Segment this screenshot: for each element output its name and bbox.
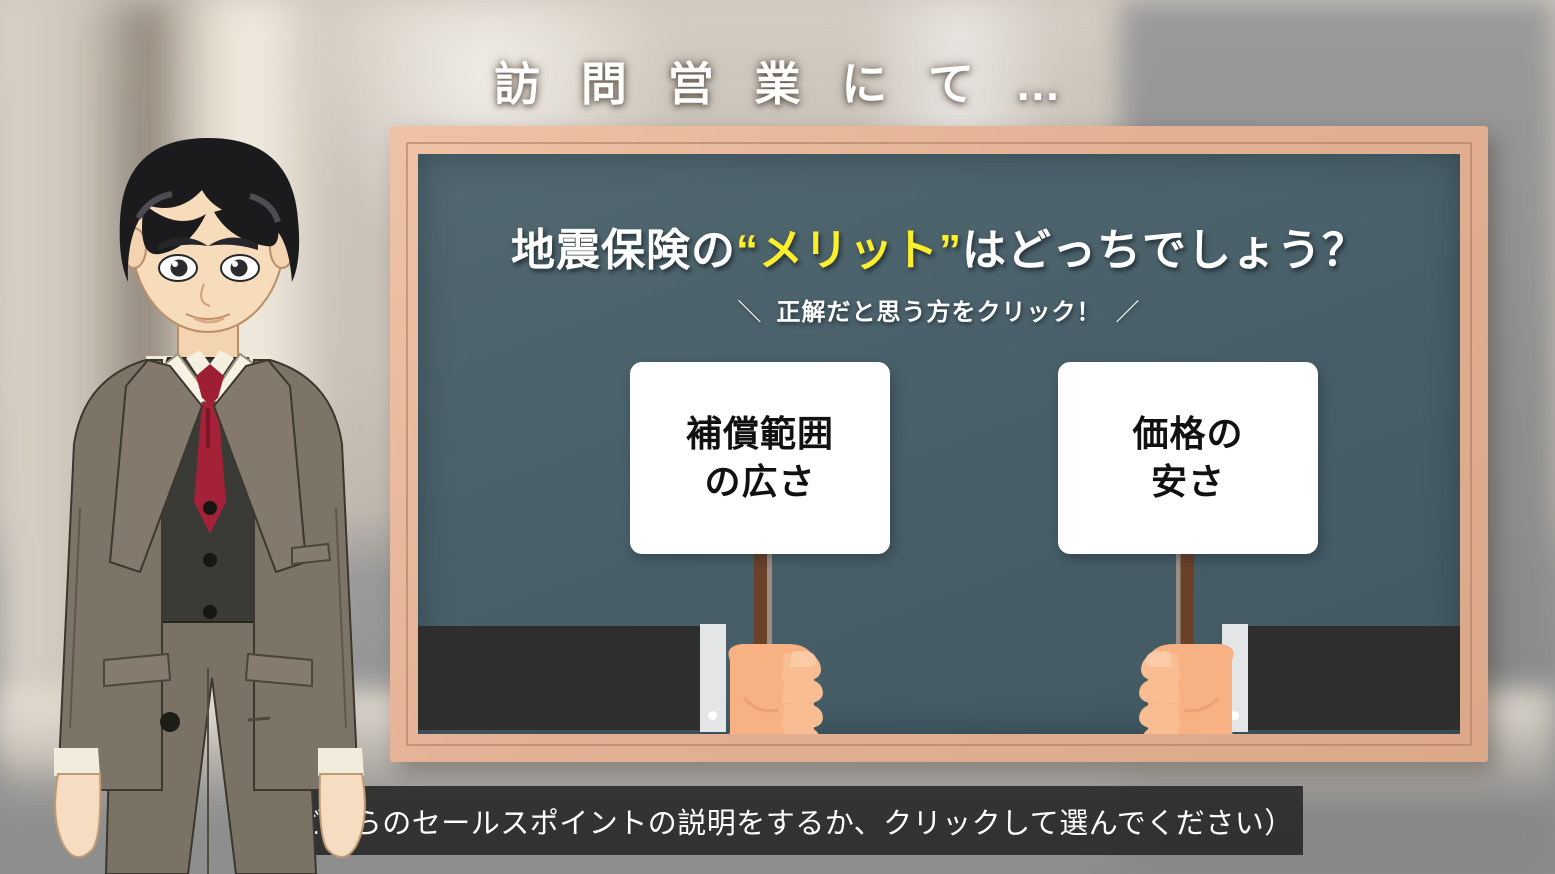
placard-coverage[interactable]: 補償範囲 の広さ [630, 362, 890, 554]
choice-price[interactable]: 価格の 安さ [1058, 362, 1318, 554]
blackboard-surface: 地震保険の“メリット”はどっちでしょう？ ＼正解だと思う方をクリック！／ [418, 154, 1460, 734]
caption-bar: （どちらのセールスポイントの説明をするか、クリックして選んでください） [255, 786, 1303, 855]
question-suffix: はどっちでしょう？ [962, 226, 1367, 275]
hand-grip-icon [1090, 608, 1240, 734]
blackboard-frame: 地震保険の“メリット”はどっちでしょう？ ＼正解だと思う方をクリック！／ [390, 126, 1488, 762]
placard-line-2: の広さ [704, 458, 815, 506]
placard-line-1: 価格の [1132, 410, 1243, 458]
hand-grip-icon [722, 608, 872, 734]
sleeve-right [1246, 626, 1460, 730]
scene-stage: 訪 問 営 業 に て … 地震保険の“メリット”はどっちでしょう？ ＼正解だと… [0, 0, 1555, 874]
subtitle-label: 正解だと思う方をクリック！ [777, 299, 1102, 326]
slash-mark-icon: ／ [1102, 292, 1155, 327]
question-text: 地震保険の“メリット”はどっちでしょう？ [418, 214, 1460, 278]
scene-title: 訪 問 営 業 に て … [0, 48, 1555, 114]
placard-line-2: 安さ [1151, 458, 1225, 506]
question-prefix: 地震保険の [511, 226, 736, 275]
salesman-character [18, 108, 398, 874]
placard-price[interactable]: 価格の 安さ [1058, 362, 1318, 554]
cuff-button-icon [708, 711, 717, 720]
question-subtitle: ＼正解だと思う方をクリック！／ [418, 292, 1460, 327]
question-accent: “メリット” [736, 226, 962, 275]
choice-coverage[interactable]: 補償範囲 の広さ [630, 362, 890, 554]
backslash-mark-icon: ＼ [724, 292, 777, 327]
placard-line-1: 補償範囲 [686, 410, 834, 458]
sleeve-left [418, 626, 702, 730]
caption-text: （どちらのセールスポイントの説明をするか、クリックして選んでください） [264, 800, 1294, 842]
